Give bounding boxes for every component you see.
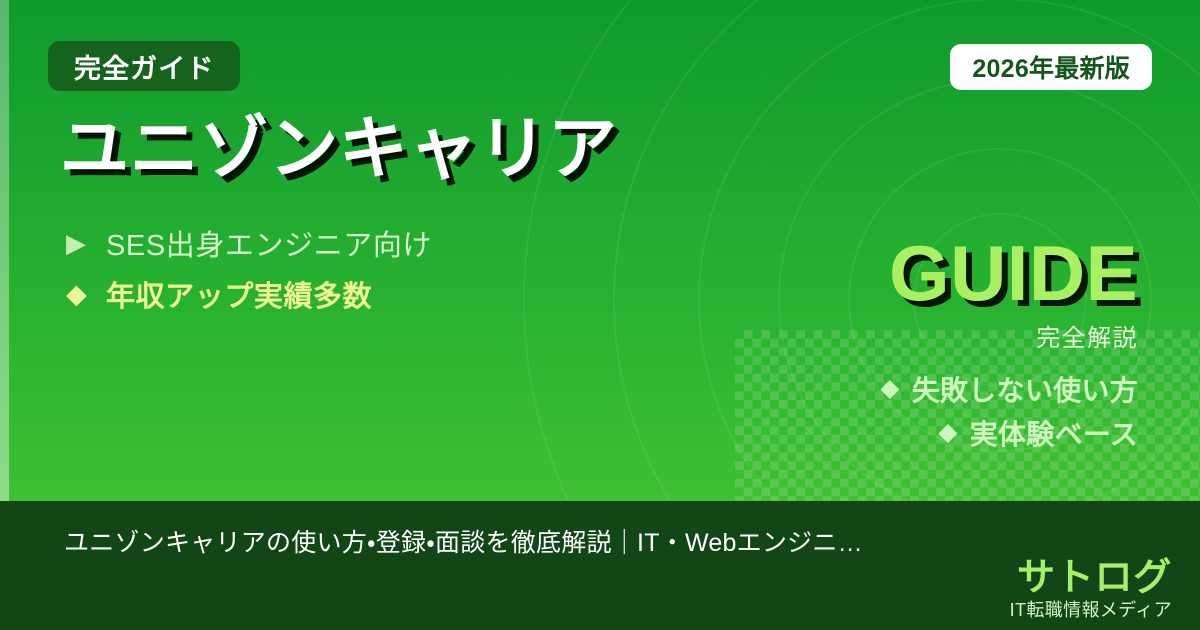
page-title: ユニゾンキャリア [60, 114, 618, 183]
guide-wordmark: GUIDE [718, 238, 1138, 310]
guide-tag-badge: 完全ガイド [48, 41, 240, 91]
hero-bullet-label: 年収アップ実績多数 [106, 273, 372, 315]
hero-bullet-item: ▶ SES出身エンジニア向け [66, 222, 432, 264]
left-accent-bar [0, 0, 9, 501]
brand-name: サトログ [1010, 559, 1172, 599]
guide-block: GUIDE 完全解説 ◆ 失敗しない使い方 ◆ 実体験ベース [718, 238, 1138, 453]
guide-point-item: ◆ 失敗しない使い方 [880, 369, 1138, 409]
guide-point-list: ◆ 失敗しない使い方 ◆ 実体験ベース [718, 369, 1138, 453]
guide-subtitle: 完全解説 [718, 318, 1138, 353]
footer-bar: ユニゾンキャリアの使い方・登録・面談を徹底解説｜IT・Webエンジニ… サトログ… [0, 501, 1200, 630]
hero-bullet-label: SES出身エンジニア向け [106, 222, 432, 264]
diamond-icon: ◆ [880, 376, 900, 401]
brand-lockup: サトログ IT転職情報メディア [1010, 559, 1172, 622]
footer-headline: ユニゾンキャリアの使い方・登録・面談を徹底解説｜IT・Webエンジニ… [64, 523, 863, 559]
guide-tag-label: 完全ガイド [74, 47, 214, 86]
guide-point-label: 実体験ベース [970, 413, 1138, 453]
guide-point-label: 失敗しない使い方 [912, 369, 1138, 409]
guide-point-item: ◆ 実体験ベース [938, 413, 1138, 453]
year-badge: 2026年最新版 [950, 44, 1152, 90]
year-badge-label: 2026年最新版 [972, 49, 1130, 85]
og-card: 完全ガイド 2026年最新版 ユニゾンキャリア ▶ SES出身エンジニア向け ◆… [0, 0, 1200, 630]
hero-bullet-list: ▶ SES出身エンジニア向け ◆ 年収アップ実績多数 [66, 222, 432, 315]
hero-bullet-item: ◆ 年収アップ実績多数 [66, 273, 432, 315]
brand-tagline: IT転職情報メディア [1010, 599, 1172, 622]
diamond-icon: ◆ [938, 420, 958, 445]
diamond-icon: ◆ [66, 281, 106, 308]
triangle-right-icon: ▶ [66, 230, 106, 256]
